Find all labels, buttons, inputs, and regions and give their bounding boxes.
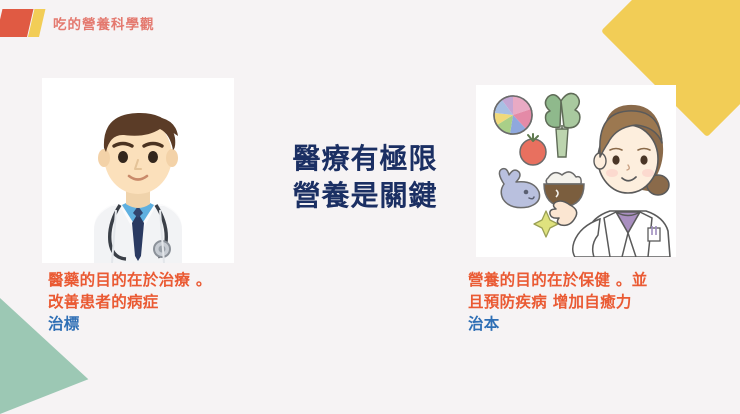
left-caption-line1: 醫藥的目的在於治療 。	[48, 269, 212, 291]
right-caption-line1: 營養的目的在於保健 。並	[468, 269, 648, 291]
doctor-illustration	[42, 78, 234, 263]
right-caption: 營養的目的在於保健 。並 且預防疾病 增加自癒力 治本	[468, 269, 648, 335]
center-title-line1: 醫療有極限	[265, 140, 465, 177]
left-caption: 醫藥的目的在於治療 。 改善患者的病症 治標	[48, 269, 212, 335]
right-caption-line2: 且預防疾病 增加自癒力	[468, 291, 648, 313]
page-title: 吃的營養科學觀	[53, 13, 155, 33]
left-caption-line2: 改善患者的病症	[48, 291, 212, 313]
right-caption-line3: 治本	[468, 313, 648, 335]
left-caption-line3: 治標	[48, 313, 212, 335]
header: 吃的營養科學觀	[0, 9, 155, 37]
pie-chart-food-icon	[494, 96, 532, 134]
center-title: 醫療有極限 營養是關鍵	[265, 140, 465, 214]
center-title-line2: 營養是關鍵	[265, 177, 465, 214]
slide-canvas: 吃的營養科學觀	[0, 0, 740, 414]
nutritionist-illustration	[476, 85, 676, 257]
